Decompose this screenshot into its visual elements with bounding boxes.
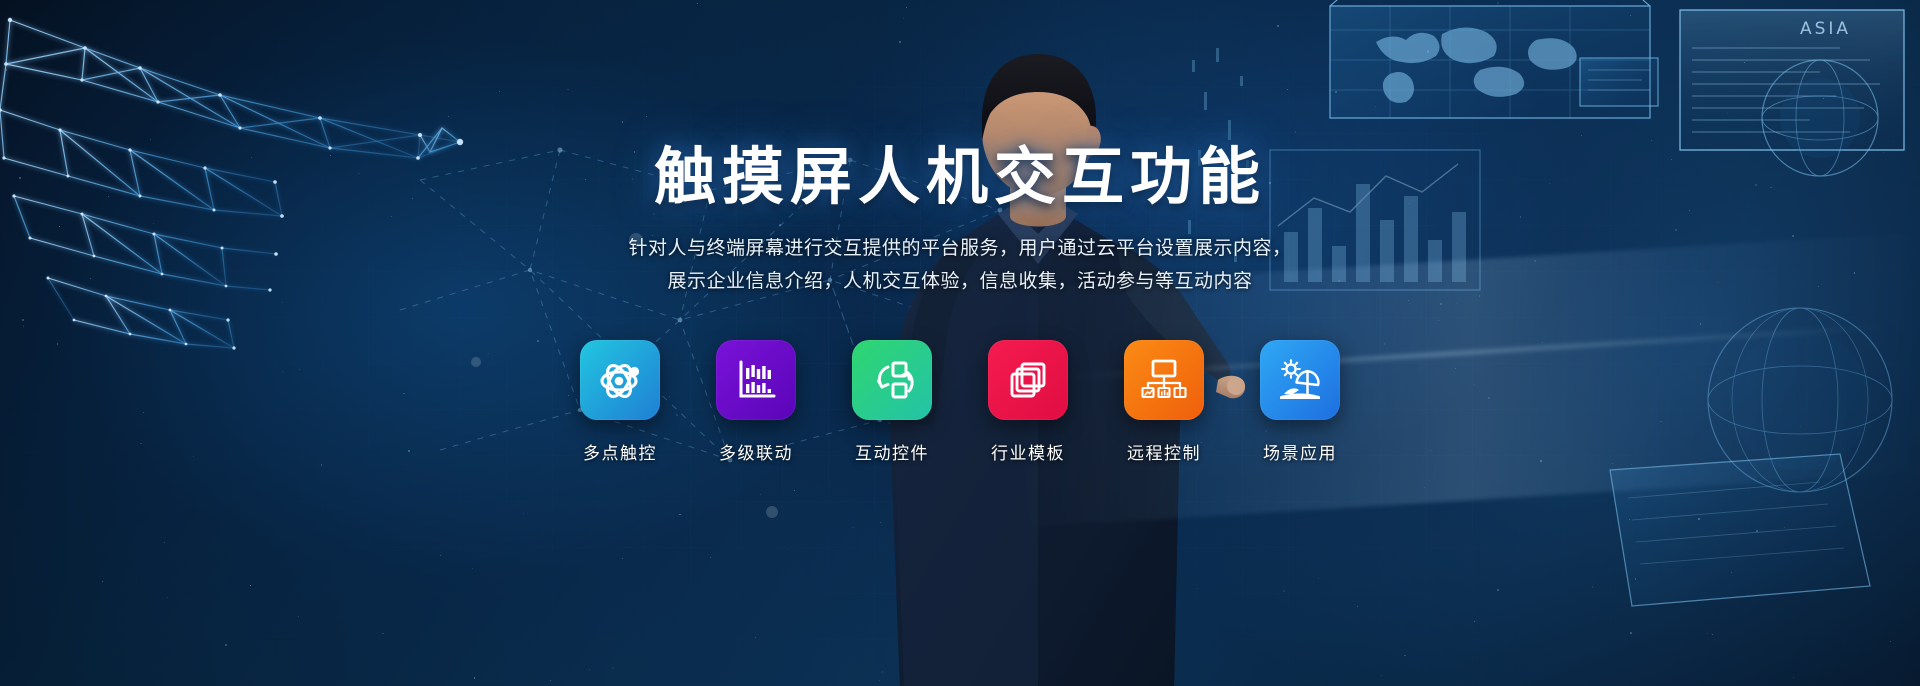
feature-label-remote-control: 远程控制	[1127, 439, 1201, 464]
feature-tile-multi-level-linkage[interactable]	[716, 340, 796, 420]
feature-label-industry-templates: 行业模板	[991, 439, 1065, 464]
feature-tile-scene-application[interactable]	[1260, 340, 1340, 420]
feature-label-multi-touch: 多点触控	[583, 439, 657, 464]
hero-banner: ASIA	[0, 0, 1920, 686]
feature-item-industry-templates[interactable]: 行业模板	[983, 340, 1073, 464]
page-title: 触摸屏人机交互功能	[0, 144, 1920, 212]
banner-subtitle: 针对人与终端屏幕进行交互提供的平台服务，用户通过云平台设置展示内容， 展示企业信…	[0, 232, 1920, 298]
feature-label-scene-application: 场景应用	[1263, 439, 1337, 464]
feature-tile-interactive-widgets[interactable]	[852, 340, 932, 420]
feature-item-remote-control[interactable]: 远程控制	[1119, 340, 1209, 464]
beach-icon	[1276, 356, 1324, 404]
feature-tile-industry-templates[interactable]	[988, 340, 1068, 420]
banner-content: 触摸屏人机交互功能 针对人与终端屏幕进行交互提供的平台服务，用户通过云平台设置展…	[0, 0, 1920, 686]
atom-icon	[596, 356, 644, 404]
feature-item-multi-level-linkage[interactable]: 多级联动	[711, 340, 801, 464]
sync-blocks-icon	[868, 356, 916, 404]
feature-label-multi-level-linkage: 多级联动	[719, 439, 793, 464]
feature-item-multi-touch[interactable]: 多点触控	[575, 340, 665, 464]
layers-icon	[1004, 356, 1052, 404]
feature-tile-multi-touch[interactable]	[580, 340, 660, 420]
feature-icon-row: 多点触控	[0, 340, 1920, 464]
subtitle-line-1: 针对人与终端屏幕进行交互提供的平台服务，用户通过云平台设置展示内容，	[0, 232, 1920, 265]
bar-chart-icon	[732, 356, 780, 404]
network-icon	[1140, 356, 1188, 404]
feature-item-scene-application[interactable]: 场景应用	[1255, 340, 1345, 464]
feature-label-interactive-widgets: 互动控件	[855, 439, 929, 464]
feature-item-interactive-widgets[interactable]: 互动控件	[847, 340, 937, 464]
feature-tile-remote-control[interactable]	[1124, 340, 1204, 420]
subtitle-line-2: 展示企业信息介绍，人机交互体验，信息收集，活动参与等互动内容	[0, 265, 1920, 298]
